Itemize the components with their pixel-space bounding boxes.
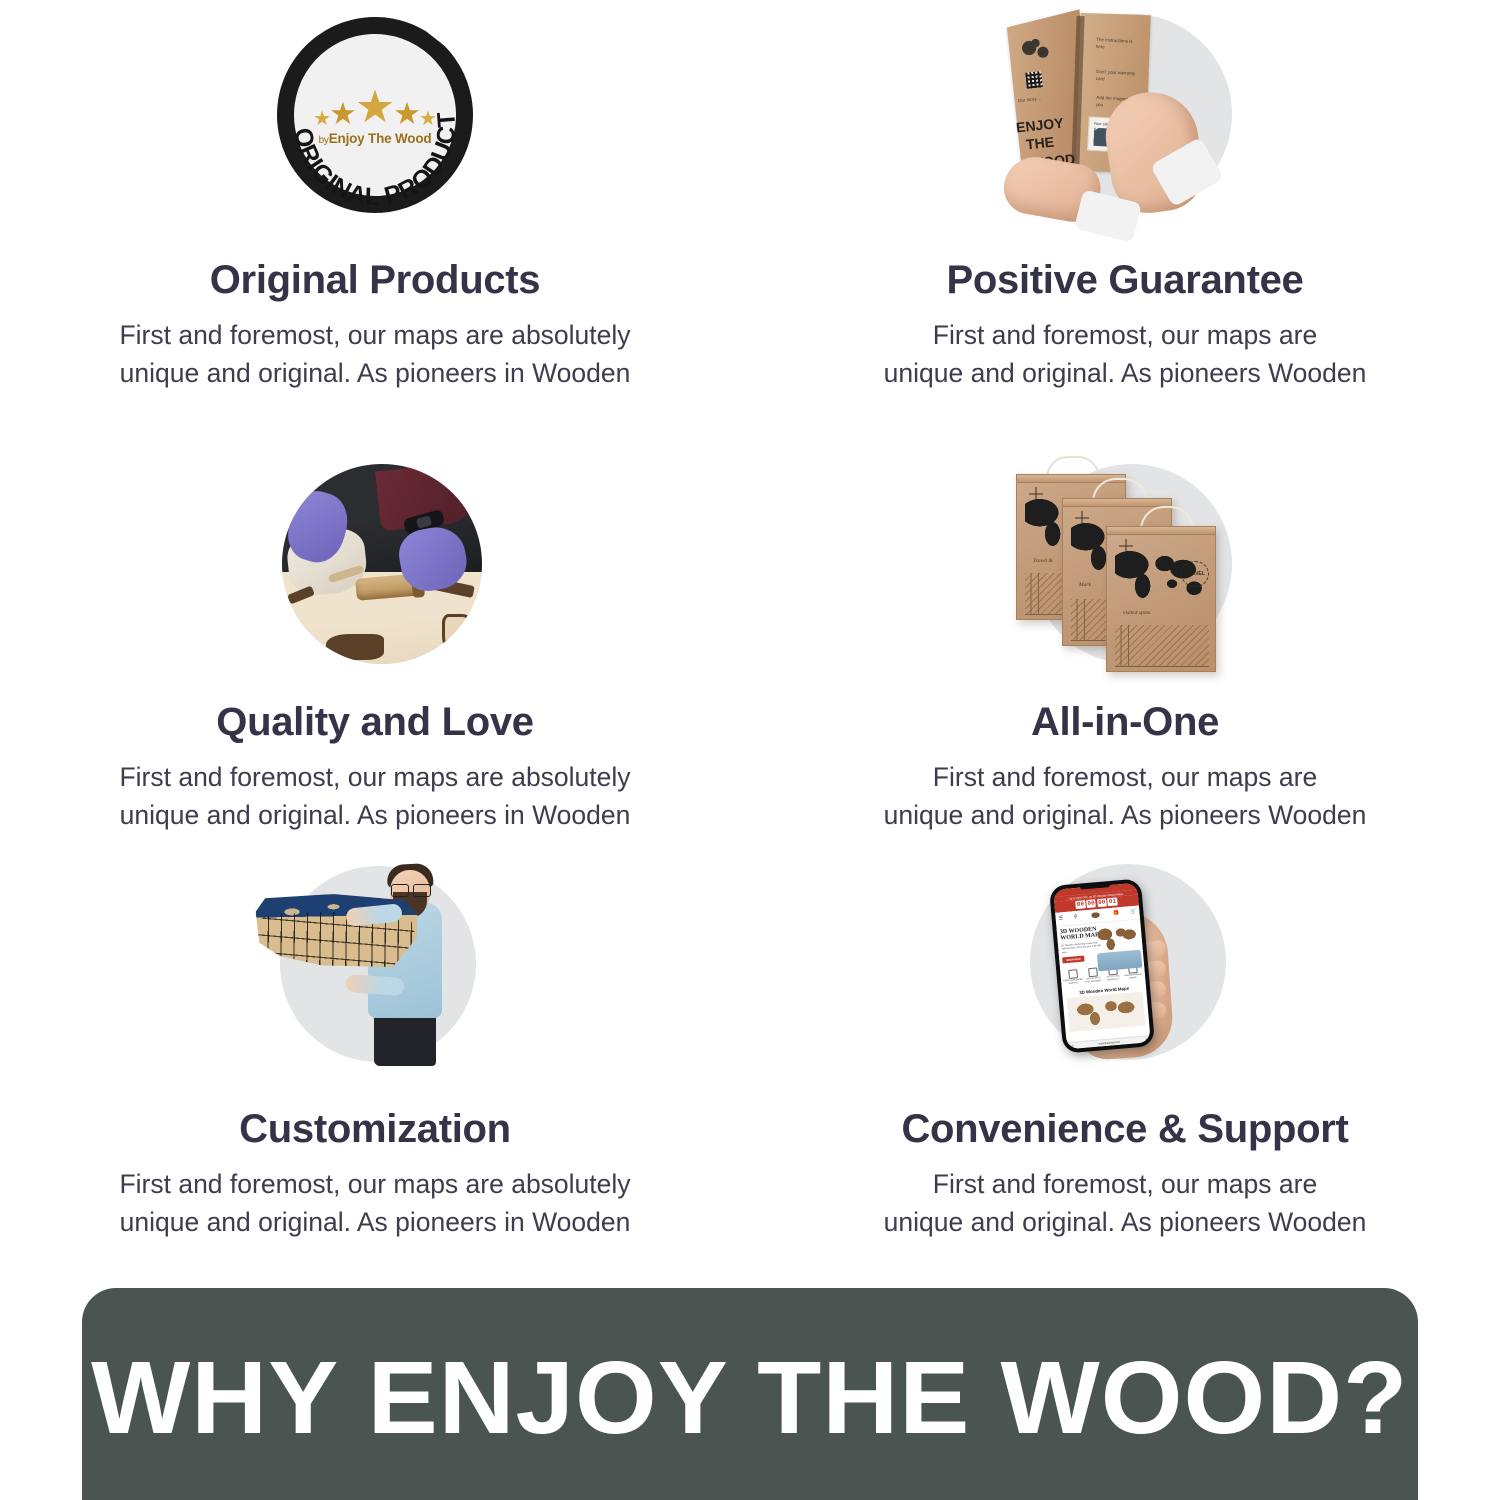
booklet-word-the: THE	[1025, 135, 1054, 152]
feature-title: All-in-One	[1031, 700, 1219, 745]
travel-stamp-badge: TRAVEL	[1181, 561, 1209, 587]
seal-graphic: ★ ★ ★ ★ ★ byEnjoy The Wood	[277, 17, 473, 213]
five-stars-icon: ★ ★ ★ ★ ★	[314, 84, 436, 129]
feature-description-line-2: unique and original. As pioneers in Wood…	[119, 355, 630, 393]
hamburger-icon[interactable]: ☰	[1059, 916, 1064, 921]
feature-description: First and foremost, our maps are unique …	[884, 317, 1367, 392]
hero-world-map-graphic	[1097, 924, 1141, 954]
feature-title: Positive Guarantee	[947, 258, 1304, 303]
countdown-seconds: 01	[1108, 897, 1118, 906]
why-enjoy-the-wood-infographic: ★ ★ ★ ★ ★ byEnjoy The Wood	[0, 0, 1500, 1500]
gloved-hands-finishing-wooden-map-photo	[250, 450, 500, 680]
site-logo[interactable]	[1088, 911, 1103, 921]
hero-section: 3D WOODEN WORLD MAP 3D Wooden World Map …	[1056, 920, 1143, 968]
feature-card-customization: Customization First and foremost, our ma…	[0, 850, 750, 1270]
seal-brand-prefix: by	[319, 135, 329, 146]
seal-brand-name: Enjoy The Wood	[329, 131, 432, 146]
finishing-illustration	[250, 450, 500, 680]
man-glasses	[391, 884, 431, 895]
text-size-button[interactable]: AA	[1070, 1044, 1074, 1047]
feature-description: First and foremost, our maps are absolut…	[119, 1166, 630, 1241]
hands-holding-kraft-booklet-photo: ENJOY THE WOOD The instructions is here …	[1000, 0, 1250, 230]
feature-description-line-1: First and foremost, our maps are	[884, 317, 1367, 355]
phone-screen: Up to 50% OFF on 3D Wooden World Maps 00…	[1053, 883, 1151, 1050]
booklet-note-instructions: The instructions is here	[1096, 37, 1139, 53]
feature-card-convenience-and-support: Up to 50% OFF on 3D Wooden World Maps 00…	[750, 850, 1500, 1270]
feature-description: First and foremost, our maps are unique …	[884, 759, 1367, 834]
booklet-world-map-print	[1017, 34, 1058, 66]
countdown-hours: 00	[1086, 899, 1096, 908]
bottom-banner: WHY ENJOY THE WOOD?	[82, 1288, 1418, 1500]
features-grid: ★ ★ ★ ★ ★ byEnjoy The Wood	[0, 0, 1500, 1270]
man-illustration	[250, 850, 500, 1085]
feature-title: Customization	[239, 1107, 511, 1152]
benefit-item: FREE WORLDWIDE SHIPPING	[1062, 969, 1083, 986]
feature-card-all-in-one: Travel & Mark TRAVEL	[750, 450, 1500, 850]
seal-inner-face: ★ ★ ★ ★ ★ byEnjoy The Wood	[295, 35, 455, 195]
feature-description-line-1: First and foremost, our maps are	[884, 1166, 1367, 1204]
feature-card-quality-and-love: Quality and Love First and foremost, our…	[0, 450, 750, 850]
kraft-box-small: visited spots TRAVEL	[1106, 526, 1216, 672]
product-card[interactable]	[1067, 991, 1146, 1031]
gift-icon[interactable]: 🎁	[1113, 911, 1120, 917]
reload-icon[interactable]: ↻	[1145, 1038, 1147, 1041]
boxes-illustration: Travel & Mark TRAVEL	[1000, 450, 1250, 680]
original-product-seal-badge: ★ ★ ★ ★ ★ byEnjoy The Wood	[250, 0, 500, 230]
hero-sofa-graphic	[1097, 950, 1142, 972]
url-text[interactable]: enjoythewood.com	[1098, 1040, 1120, 1045]
feature-description-line-1: First and foremost, our maps are absolut…	[119, 1166, 630, 1204]
star-icon: ★	[329, 98, 357, 129]
box-lid-edge	[1063, 499, 1171, 507]
delivery-icon	[1088, 968, 1098, 978]
shop-now-button[interactable]: SHOP NOW	[1062, 956, 1085, 964]
smartphone-device: Up to 50% OFF on 3D Wooden World Maps 00…	[1049, 878, 1155, 1053]
countdown-minutes: 00	[1097, 898, 1107, 907]
feature-title: Convenience & Support	[901, 1107, 1348, 1152]
countdown-days: 00	[1076, 900, 1086, 909]
feature-description-line-2: unique and original. As pioneers Wooden	[884, 797, 1367, 835]
shipping-icon	[1068, 970, 1078, 980]
feature-description-line-2: unique and original. As pioneers in Wood…	[119, 797, 630, 835]
feature-title: Original Products	[210, 258, 541, 303]
man-presenting-wooden-city-map-photo	[250, 850, 500, 1085]
booklet-qr-code	[1025, 71, 1043, 89]
seal-brand-text: byEnjoy The Wood	[319, 131, 432, 146]
feature-description-line-1: First and foremost, our maps are	[884, 759, 1367, 797]
benefit-label: UP TO 5 YRS WARRANTY	[1103, 976, 1123, 983]
burnt-map-edge	[326, 634, 384, 660]
box-script-text: Travel &	[1033, 557, 1053, 565]
star-icon: ★	[393, 98, 421, 129]
three-kraft-map-boxes-photo: Travel & Mark TRAVEL	[1000, 450, 1250, 680]
hero-subtitle: 3D Wooden World Map made from natural wo…	[1061, 941, 1102, 955]
feature-card-positive-guarantee: ENJOY THE WOOD The instructions is here …	[750, 0, 1500, 450]
feature-card-original-products: ★ ★ ★ ★ ★ byEnjoy The Wood	[0, 0, 750, 450]
benefit-label: TOPS 30 DAYS FAST DELIVERY	[1083, 977, 1103, 984]
feature-description-line-1: First and foremost, our maps are absolut…	[119, 317, 630, 355]
star-icon: ★	[419, 109, 437, 129]
booklet-illustration: ENJOY THE WOOD The instructions is here …	[1000, 0, 1250, 230]
cart-icon[interactable]: 🛒	[1130, 910, 1137, 916]
booklet-note-warranty: Don't your warranty card	[1096, 69, 1139, 85]
feature-description: First and foremost, our maps are absolut…	[119, 759, 630, 834]
feature-description-line-2: unique and original. As pioneers in Wood…	[119, 1204, 630, 1242]
banner-headline: WHY ENJOY THE WOOD?	[91, 1346, 1408, 1449]
search-icon[interactable]: ⚲	[1074, 915, 1078, 920]
feature-description-line-2: unique and original. As pioneers Wooden	[884, 355, 1367, 393]
photo-circle-backdrop	[282, 464, 482, 664]
box-script-text: Mark	[1079, 581, 1091, 589]
benefit-label: FREE WORLDWIDE SHIPPING	[1063, 979, 1083, 986]
phone-illustration: Up to 50% OFF on 3D Wooden World Maps 00…	[1000, 850, 1250, 1085]
box-living-room-illustration	[1115, 625, 1209, 667]
feature-description-line-1: First and foremost, our maps are absolut…	[119, 759, 630, 797]
hand-holding-phone-website-photo: Up to 50% OFF on 3D Wooden World Maps 00…	[1000, 850, 1250, 1085]
cut-out-landmass	[442, 614, 476, 658]
feature-description: First and foremost, our maps are unique …	[884, 1166, 1367, 1241]
star-icon: ★	[355, 84, 395, 129]
box-lid-edge	[1107, 527, 1215, 535]
box-script-text: visited spots	[1123, 609, 1150, 617]
benefit-label: AWARD WINNING BRAND	[1123, 974, 1143, 981]
feature-description-line-2: unique and original. As pioneers Wooden	[884, 1204, 1367, 1242]
feature-title: Quality and Love	[216, 700, 534, 745]
feature-description: First and foremost, our maps are absolut…	[119, 317, 630, 392]
